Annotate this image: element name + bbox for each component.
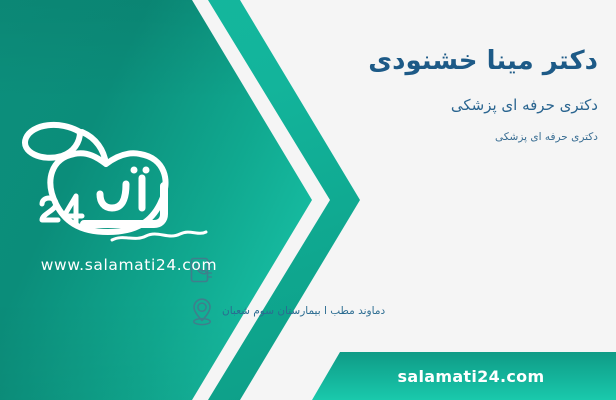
contact-row-address[interactable]: دماوند مطب ا بیمارستان سوم شعبان (182, 292, 602, 332)
contact-address-label: دماوند مطب ا بیمارستان سوم شعبان (222, 305, 391, 319)
logo-wordmark-dot-1 (131, 167, 138, 174)
salamati24-logo: www.salamati24.com (14, 108, 244, 288)
doctor-name: دکتر مینا خشنودی (178, 46, 598, 76)
logo-wordmark-stroke-3 (100, 184, 126, 208)
footer-site-url: salamati24.com (384, 367, 545, 386)
business-card: www.salamati24.com دکتر مینا خشنودی دکتر… (0, 0, 616, 400)
contact-row-phone[interactable] (182, 250, 602, 290)
logo-website-url: www.salamati24.com (14, 256, 244, 274)
footer-bar[interactable]: salamati24.com (312, 352, 616, 400)
logo-wordmark-dot-2 (143, 167, 150, 174)
logo-badge-24-two (42, 198, 58, 220)
location-pin-icon (182, 292, 222, 332)
apple-leaf-icon (25, 125, 80, 158)
